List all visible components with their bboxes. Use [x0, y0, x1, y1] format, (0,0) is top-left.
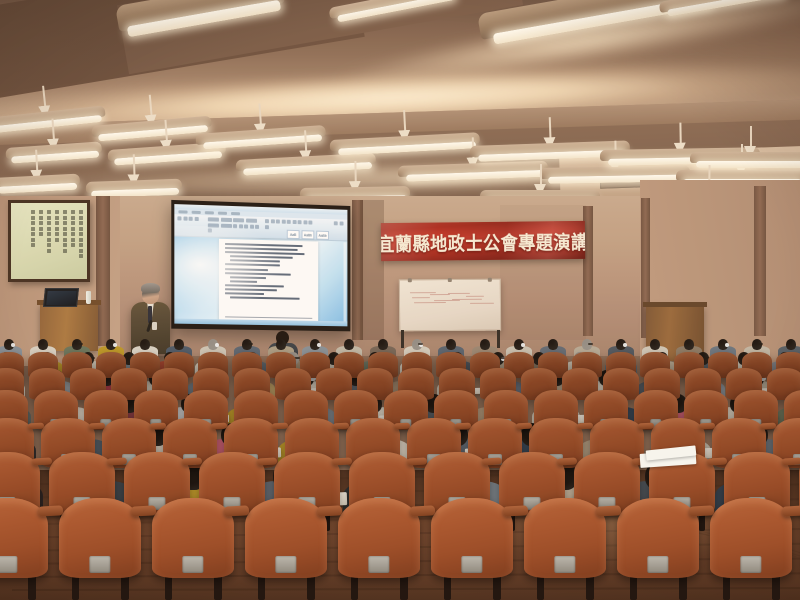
scroll-glyph [71, 227, 75, 231]
scroll-glyph [31, 243, 35, 247]
attendee-head [548, 339, 558, 350]
ribbon-command-icon[interactable] [287, 220, 291, 224]
scroll-glyph [79, 221, 83, 225]
scroll-text-column [62, 208, 67, 274]
seat-armrest [224, 505, 249, 516]
whiteboard-marking [470, 303, 494, 305]
ribbon-command-icon[interactable] [265, 219, 269, 223]
projected-desktop: AaB AaBb AaBb [174, 204, 347, 326]
auditorium-seat[interactable] [152, 498, 234, 578]
scroll-glyph [63, 210, 67, 214]
seat-armrest [515, 423, 531, 430]
scroll-text-column [78, 208, 83, 274]
attendee-head [140, 339, 150, 350]
scroll-glyph [55, 232, 59, 236]
speaker-hair [141, 283, 160, 293]
scroll-glyph [63, 227, 67, 231]
scroll-glyph [39, 210, 43, 214]
whiteboard-marking [412, 297, 430, 299]
eyeglasses [588, 343, 593, 345]
seat-armrest [454, 423, 470, 430]
scroll-glyph [79, 210, 83, 214]
scroll-glyph [31, 221, 35, 225]
wall-column [96, 196, 110, 346]
seat-armrest [393, 423, 409, 430]
seat-armrest [759, 423, 775, 430]
tab-file[interactable] [178, 210, 187, 213]
scroll-glyph [39, 216, 43, 220]
ribbon-command-icon[interactable] [183, 216, 187, 220]
scroll-glyph [63, 238, 67, 242]
screen-glare [174, 225, 279, 313]
auditorium-seat[interactable] [617, 498, 699, 578]
seat-armrest [698, 423, 714, 430]
seat-armrest [410, 505, 435, 516]
eyeglasses [418, 343, 423, 345]
whiteboard-clip [448, 278, 452, 282]
pendant-light-fixture [690, 152, 800, 169]
attendee-head [786, 339, 796, 350]
ribbon-command-icon[interactable] [292, 220, 296, 224]
seat-armrest [27, 423, 43, 430]
ribbon-command-icon[interactable] [303, 220, 307, 224]
auditorium-seat[interactable] [524, 498, 606, 578]
auditorium-seat[interactable] [245, 498, 327, 578]
scroll-glyph [63, 243, 67, 247]
seat-armrest [131, 505, 156, 516]
wall-column [754, 186, 766, 336]
whiteboard-leg [497, 330, 500, 348]
style-heading1[interactable]: AaBb [302, 230, 315, 239]
scroll-glyph [31, 216, 35, 220]
scroll-glyph [47, 227, 51, 231]
banner-cloth: 宜蘭縣地政士公會專題演講 [381, 221, 585, 261]
auditorium-seat[interactable] [431, 498, 513, 578]
ribbon-command-icon[interactable] [220, 218, 231, 222]
attendee-head [38, 339, 48, 350]
scroll-text-column [38, 208, 43, 274]
eyeglasses [78, 343, 83, 345]
ribbon-command-icon[interactable] [334, 221, 338, 225]
whiteboard-clip [408, 278, 412, 282]
scroll-glyph [63, 249, 67, 253]
scroll-text-column [54, 208, 59, 274]
tab-insert[interactable] [205, 211, 214, 214]
seat-armrest [317, 505, 342, 516]
attendee-head [446, 339, 456, 350]
attendee-head [344, 339, 354, 350]
attendee-head [276, 339, 286, 350]
event-banner: 宜蘭縣地政士公會專題演講 [381, 221, 585, 261]
seat-armrest [637, 423, 653, 430]
scroll-glyph [71, 210, 75, 214]
scroll-glyph [31, 238, 35, 242]
tab-home[interactable] [192, 211, 201, 214]
seat-armrest [596, 505, 621, 516]
scroll-glyph [55, 227, 59, 231]
eyeglasses [758, 343, 763, 345]
wall-shadow [360, 200, 384, 340]
scroll-glyph [47, 221, 51, 225]
scroll-glyph [31, 227, 35, 231]
scroll-glyph [79, 232, 83, 236]
scroll-glyph [55, 216, 59, 220]
scroll-glyph [55, 210, 59, 214]
seat-armrest [88, 423, 104, 430]
scroll-glyph [47, 249, 51, 253]
ribbon-command-icon[interactable] [339, 221, 343, 225]
scroll-glyph [71, 238, 75, 242]
auditorium-seat[interactable] [710, 498, 792, 578]
seat-armrest [782, 505, 800, 516]
water-bottle[interactable] [86, 291, 91, 304]
scroll-glyph [63, 221, 67, 225]
auditorium-seat[interactable] [338, 498, 420, 578]
ribbon-command-icon[interactable] [208, 217, 219, 221]
scroll-glyph [79, 243, 83, 247]
laptop-screen [46, 291, 76, 305]
lectern-left [40, 303, 98, 351]
attendee-head [480, 339, 490, 350]
seat-armrest [271, 423, 287, 430]
scroll-text-column [70, 208, 75, 274]
projection-screen: AaB AaBb AaBb [171, 200, 350, 331]
scroll-glyph [71, 221, 75, 225]
laptop[interactable] [43, 288, 79, 307]
scroll-glyph [63, 232, 67, 236]
scroll-paper [11, 203, 87, 279]
ribbon-group-editing[interactable] [334, 221, 348, 225]
scroll-glyph [79, 216, 83, 220]
lecture-hall-photo: AaB AaBb AaBb 宜蘭縣地政士公會專題演講 [0, 0, 800, 600]
attendee-head [684, 339, 694, 350]
tab-layout[interactable] [218, 212, 227, 215]
ribbon-command-icon[interactable] [270, 219, 274, 223]
ribbon-command-icon[interactable] [246, 218, 257, 222]
scroll-glyph [79, 254, 83, 258]
scroll-glyph [39, 227, 43, 231]
scroll-glyph [79, 238, 83, 242]
seat-armrest [689, 505, 714, 516]
scrollbar-vertical[interactable] [344, 242, 347, 326]
scroll-glyph [71, 232, 75, 236]
scroll-glyph [71, 216, 75, 220]
ribbon-command-icon[interactable] [194, 217, 198, 221]
whiteboard [399, 279, 501, 332]
whiteboard-marking [414, 302, 446, 304]
ribbon-command-icon[interactable] [298, 220, 302, 224]
scroll-glyph [31, 232, 35, 236]
style-normal[interactable]: AaB [287, 230, 300, 239]
ribbon-command-icon[interactable] [189, 217, 193, 221]
seat-armrest [210, 423, 226, 430]
fluorescent-tube [696, 161, 800, 168]
scroll-glyph [31, 210, 35, 214]
seat-armrest [576, 423, 592, 430]
whiteboard-marking [466, 296, 484, 298]
screen-frame: AaB AaBb AaBb [171, 200, 350, 331]
eyeglasses [248, 343, 253, 345]
seat-armrest [149, 423, 165, 430]
tab-review[interactable] [231, 212, 240, 215]
ribbon-command-icon[interactable] [281, 220, 285, 224]
whiteboard-clip [488, 278, 492, 282]
whiteboard-marking [430, 294, 450, 296]
auditorium-seat[interactable] [59, 498, 141, 578]
ribbon-group-clipboard[interactable] [177, 216, 203, 221]
ribbon-command-icon[interactable] [177, 216, 181, 220]
whiteboard-leg [401, 330, 404, 348]
scroll-glyph [47, 216, 51, 220]
word-status-bar [174, 319, 347, 327]
scroll-glyph [47, 243, 51, 247]
attendee-head [378, 339, 388, 350]
scroll-glyph [47, 210, 51, 214]
scroll-glyph [55, 221, 59, 225]
scroll-glyph [79, 249, 83, 253]
scroll-glyph [79, 227, 83, 231]
banner-title-text: 宜蘭縣地政士公會專題演講 [381, 226, 585, 256]
seat-armrest [332, 423, 348, 430]
ribbon-command-icon[interactable] [276, 219, 280, 223]
attendee-head [650, 339, 660, 350]
scroll-glyph [71, 243, 75, 247]
whiteboard-marking [448, 293, 470, 295]
seat-armrest [503, 505, 528, 516]
scroll-glyph [47, 232, 51, 236]
scroll-glyph [55, 238, 59, 242]
scroll-glyph [63, 216, 67, 220]
scroll-glyph [39, 221, 43, 225]
ribbon-command-icon[interactable] [308, 220, 312, 224]
attendee-head [174, 339, 184, 350]
speaker-lanyard-badge [152, 322, 157, 330]
scroll-glyph [39, 232, 43, 236]
scroll-glyph [47, 238, 51, 242]
scroll-text-column [30, 208, 35, 274]
style-heading2[interactable]: AaBb [316, 231, 329, 240]
ribbon-command-icon[interactable] [233, 218, 244, 222]
lectern-top [643, 302, 707, 307]
seat-armrest [38, 505, 63, 516]
framed-calligraphy-scroll [8, 200, 90, 282]
scroll-text-column [46, 208, 51, 274]
